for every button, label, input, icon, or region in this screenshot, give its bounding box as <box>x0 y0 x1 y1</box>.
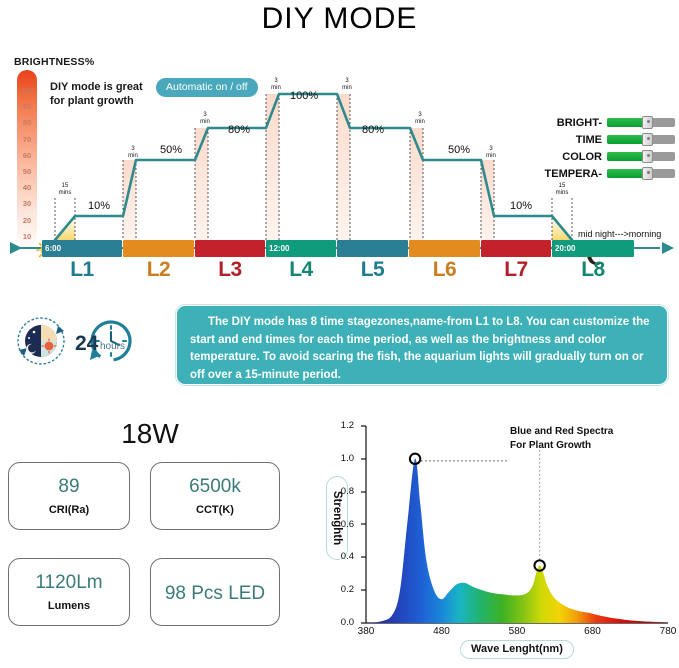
spectrum-y-tick: 0.2 <box>330 584 354 595</box>
spectrum-chart: Strenghth Wave Lenght(nm) 0.00.20.40.60.… <box>320 408 679 663</box>
transition-duration-label: 3min <box>196 112 214 125</box>
spec-value-led-count: 98 Pcs LED <box>151 583 279 605</box>
spec-caption-lumens: Lumens <box>9 600 129 612</box>
spectrum-y-tick: 0.8 <box>330 486 354 497</box>
timeline-segment-bump <box>73 235 91 241</box>
spectrum-annotation: Blue and Red Spectra For Plant Growth <box>510 425 613 452</box>
transition-duration-label: 15mins <box>56 183 74 196</box>
slider-row-bright[interactable]: BRIGHT- <box>505 115 675 130</box>
spec-value-cri: 89 <box>9 476 129 498</box>
spec-box-lumens: 1120Lm Lumens <box>8 558 130 626</box>
spectrum-x-tick: 680 <box>573 626 613 637</box>
clock-hours-text: hours <box>100 341 125 352</box>
slider-fill <box>607 118 645 127</box>
spectrum-y-tick: 0.6 <box>330 519 354 530</box>
brightness-percent-label: 10% <box>510 200 532 212</box>
stage-name-l4: L4 <box>275 258 327 282</box>
transition-duration-unit: min <box>338 85 356 92</box>
specs-panel: 18W 89 CRI(Ra) 6500k CCT(K) 1120Lm Lumen… <box>0 410 320 660</box>
transition-duration-unit: min <box>411 119 429 126</box>
spectrum-plot-svg <box>320 408 679 663</box>
slider-row-tempera[interactable]: TEMPERA- <box>505 166 675 181</box>
brightness-percent-label: 50% <box>160 144 182 156</box>
stage-name-l5: L5 <box>347 258 399 282</box>
stage-name-l3: L3 <box>204 258 256 282</box>
stage-timeline: 6:0012:0020:00 <box>0 240 679 258</box>
spectrum-x-tick: 580 <box>497 626 537 637</box>
stage-name-l2: L2 <box>133 258 185 282</box>
control-sliders: BRIGHT-TIMECOLORTEMPERA- <box>505 115 675 183</box>
spectrum-x-tick: 780 <box>648 626 679 637</box>
slider-fill <box>607 152 645 161</box>
spectrum-y-tick: 0.4 <box>330 551 354 562</box>
spec-value-cct: 6500k <box>151 476 279 498</box>
transition-duration-unit: min <box>267 85 285 92</box>
spectrum-x-axis-label: Wave Lenght(nm) <box>460 640 574 659</box>
timeline-segment-bump <box>292 235 310 241</box>
slider-label: TEMPERA- <box>545 168 602 180</box>
spec-box-cri: 89 CRI(Ra) <box>8 462 130 530</box>
slider-knob[interactable] <box>642 167 653 180</box>
timeline-time-label: 6:00 <box>45 244 61 253</box>
spectrum-annotation-line-2: For Plant Growth <box>510 439 613 453</box>
spectrum-x-tick: 480 <box>422 626 462 637</box>
clock-24-text: 24 <box>75 332 99 355</box>
transition-duration-label: 3min <box>482 146 500 159</box>
slider-knob[interactable] <box>642 150 653 163</box>
timeline-segment-bump <box>221 235 239 241</box>
slider-fill <box>607 135 645 144</box>
slider-knob[interactable] <box>642 116 653 129</box>
spectrum-y-tick: 1.2 <box>330 420 354 431</box>
spectrum-annotation-line-1: Blue and Red Spectra <box>510 425 613 439</box>
transition-bands <box>123 94 494 240</box>
timeline-segment-bump <box>584 235 602 241</box>
stage-name-l1: L1 <box>56 258 108 282</box>
slider-track[interactable] <box>607 118 675 127</box>
slider-row-time[interactable]: TIME <box>505 132 675 147</box>
slider-label: COLOR <box>562 151 602 163</box>
spectrum-y-tickmarks <box>361 426 366 623</box>
slider-track[interactable] <box>607 135 675 144</box>
transition-duration-label: 3min <box>267 78 285 91</box>
stage-name-l8: L8 <box>567 258 619 282</box>
timeline-time-label: 20:00 <box>555 244 575 253</box>
spectrum-y-tick: 1.0 <box>330 453 354 464</box>
description-band: 24 hours The DIY mode has 8 time stagezo… <box>0 300 679 392</box>
slider-track[interactable] <box>607 152 675 161</box>
brightness-percent-label: 80% <box>362 124 384 136</box>
slider-label: BRIGHT- <box>557 117 602 129</box>
description-text: The DIY mode has 8 time stagezones,name-… <box>176 305 668 385</box>
stage-name-l6: L6 <box>419 258 471 282</box>
stage-name-row: L1L2L3L4L5L6L7L8 <box>0 258 679 284</box>
transition-duration-label: 3min <box>338 78 356 91</box>
slider-row-color[interactable]: COLOR <box>505 149 675 164</box>
slider-track[interactable] <box>607 169 675 178</box>
stage-name-l7: L7 <box>490 258 542 282</box>
day-night-cycle-icon <box>14 314 68 368</box>
timeline-segment-bump <box>150 235 168 241</box>
slider-fill <box>607 169 645 178</box>
timeline-time-label: 12:00 <box>269 244 289 253</box>
spec-caption-cct: CCT(K) <box>151 504 279 516</box>
transition-duration-unit: min <box>196 119 214 126</box>
spectrum-x-tick: 380 <box>346 626 386 637</box>
spec-caption-cri: CRI(Ra) <box>9 504 129 516</box>
slider-label: TIME <box>576 134 602 146</box>
transition-duration-label: 15mins <box>553 183 571 196</box>
page-title: DIY MODE <box>0 2 679 36</box>
transition-duration-label: 3min <box>411 112 429 125</box>
24-hours-clock-icon: 24 hours <box>74 316 136 368</box>
transition-duration-unit: min <box>124 153 142 160</box>
slider-knob[interactable] <box>642 133 653 146</box>
brightness-percent-label: 10% <box>88 200 110 212</box>
transition-duration-unit: mins <box>553 190 571 197</box>
timeline-segment-bump <box>364 235 382 241</box>
diy-mode-infographic: DIY MODE BRIGHTNESS% 1009080706050403020… <box>0 0 679 663</box>
brightness-percent-label: 100% <box>290 90 318 102</box>
spec-value-lumens: 1120Lm <box>9 572 129 594</box>
spec-box-cct: 6500k CCT(K) <box>150 462 280 530</box>
brightness-percent-label: 50% <box>448 144 470 156</box>
spec-box-led-count: 98 Pcs LED <box>150 558 280 626</box>
timeline-segment-bump <box>436 235 454 241</box>
timeline-segment-bump <box>507 235 525 241</box>
brightness-percent-label: 80% <box>228 124 250 136</box>
transition-duration-label: 3min <box>124 146 142 159</box>
wattage-label: 18W <box>0 418 300 450</box>
transition-duration-unit: min <box>482 153 500 160</box>
transition-duration-unit: mins <box>56 190 74 197</box>
spectrum-curve <box>366 459 668 623</box>
